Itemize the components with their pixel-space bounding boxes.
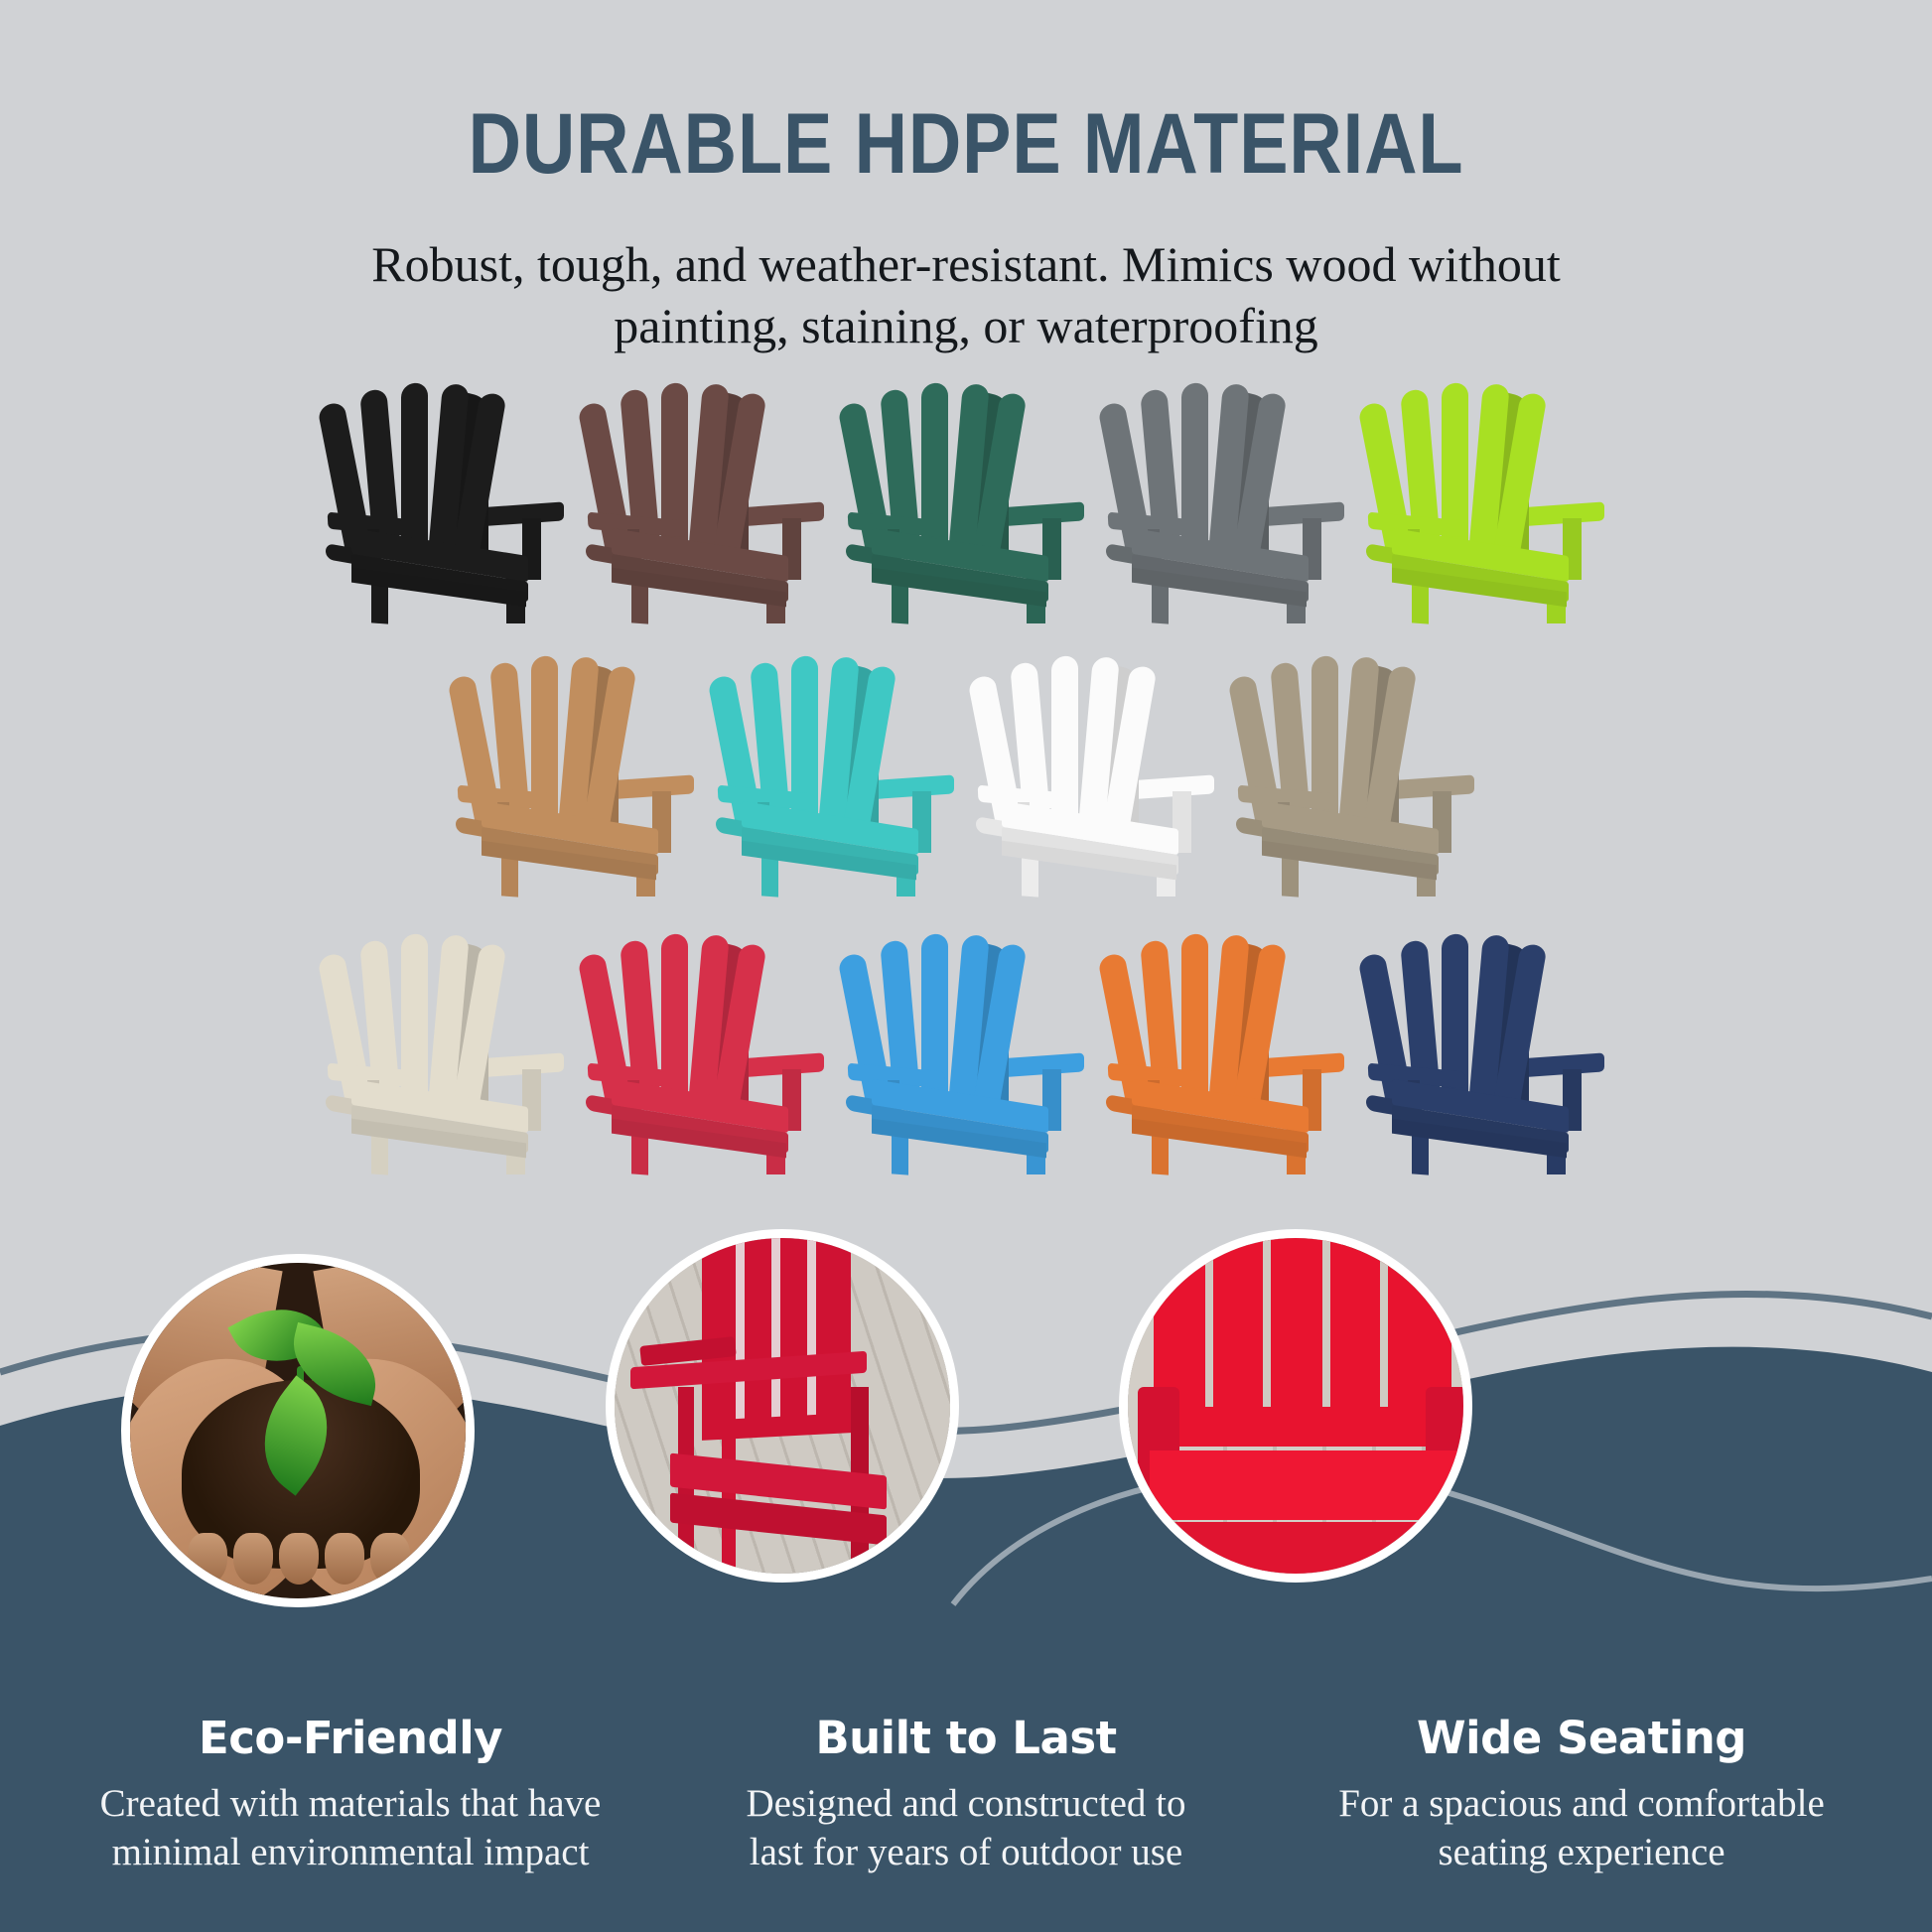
chair-swatch-dark-green[interactable] [842, 367, 1090, 623]
chair-swatch-black[interactable] [322, 367, 570, 623]
feature-desc-line-1: Created with materials that have [100, 1782, 602, 1825]
chair-swatch-red[interactable] [582, 918, 830, 1174]
adirondack-chair-icon [582, 367, 830, 623]
chair-swatch-light-blue[interactable] [842, 918, 1090, 1174]
adirondack-chair-icon [1232, 640, 1480, 897]
feature-description: Designed and constructed to last for yea… [674, 1780, 1258, 1876]
chair-swatch-white[interactable] [972, 640, 1220, 897]
adirondack-chair-icon [452, 640, 700, 897]
adirondack-chair-icon [1362, 367, 1610, 623]
feature-caption-row: Eco-Friendly Created with materials that… [0, 1712, 1932, 1876]
chair-swatch-gray[interactable] [1102, 367, 1350, 623]
chair-swatch-lime-green[interactable] [1362, 367, 1610, 623]
adirondack-chair-icon [582, 918, 830, 1174]
adirondack-chair-icon [1102, 367, 1350, 623]
chair-swatch-teak[interactable] [452, 640, 700, 897]
feature-title: Wide Seating [1290, 1712, 1873, 1764]
chair-row-3 [0, 918, 1932, 1174]
infographic-canvas: DURABLE HDPE MATERIAL Robust, tough, and… [0, 0, 1932, 1932]
feature-desc-line-2: last for years of outdoor use [750, 1831, 1182, 1873]
adirondack-chair-icon [972, 640, 1220, 897]
feature-photo-wide-seating [1119, 1229, 1472, 1583]
feature-description: For a spacious and comfortable seating e… [1290, 1780, 1873, 1876]
feature-wide-seating: Wide Seating For a spacious and comforta… [1274, 1712, 1889, 1876]
adirondack-chair-icon [842, 367, 1090, 623]
chair-swatch-ivory[interactable] [322, 918, 570, 1174]
adirondack-chair-icon [322, 918, 570, 1174]
feature-title: Built to Last [674, 1712, 1258, 1764]
adirondack-chair-icon [322, 367, 570, 623]
adirondack-chair-icon [842, 918, 1090, 1174]
feature-description: Created with materials that have minimal… [59, 1780, 642, 1876]
feature-desc-line-1: For a spacious and comfortable [1338, 1782, 1825, 1825]
feature-eco-friendly: Eco-Friendly Created with materials that… [43, 1712, 658, 1876]
adirondack-chair-icon [1102, 918, 1350, 1174]
chair-swatch-taupe[interactable] [1232, 640, 1480, 897]
adirondack-chair-icon [712, 640, 960, 897]
subtitle-line-1: Robust, tough, and weather-resistant. Mi… [271, 234, 1661, 295]
feature-built-to-last: Built to Last Designed and constructed t… [658, 1712, 1274, 1876]
page-title: DURABLE HDPE MATERIAL [135, 95, 1797, 194]
feature-photo-built-to-last [606, 1229, 959, 1583]
chair-row-2 [0, 640, 1932, 897]
chair-swatch-orange[interactable] [1102, 918, 1350, 1174]
feature-photo-eco-friendly [121, 1254, 475, 1607]
feature-desc-line-2: minimal environmental impact [112, 1831, 590, 1873]
chair-swatch-brown[interactable] [582, 367, 830, 623]
chair-row-1 [0, 367, 1932, 623]
chair-swatch-navy-blue[interactable] [1362, 918, 1610, 1174]
feature-title: Eco-Friendly [59, 1712, 642, 1764]
feature-desc-line-2: seating experience [1438, 1831, 1725, 1873]
adirondack-chair-icon [1362, 918, 1610, 1174]
feature-desc-line-1: Designed and constructed to [747, 1782, 1186, 1825]
chair-swatch-turquoise[interactable] [712, 640, 960, 897]
subtitle-line-2: painting, staining, or waterproofing [271, 296, 1661, 356]
